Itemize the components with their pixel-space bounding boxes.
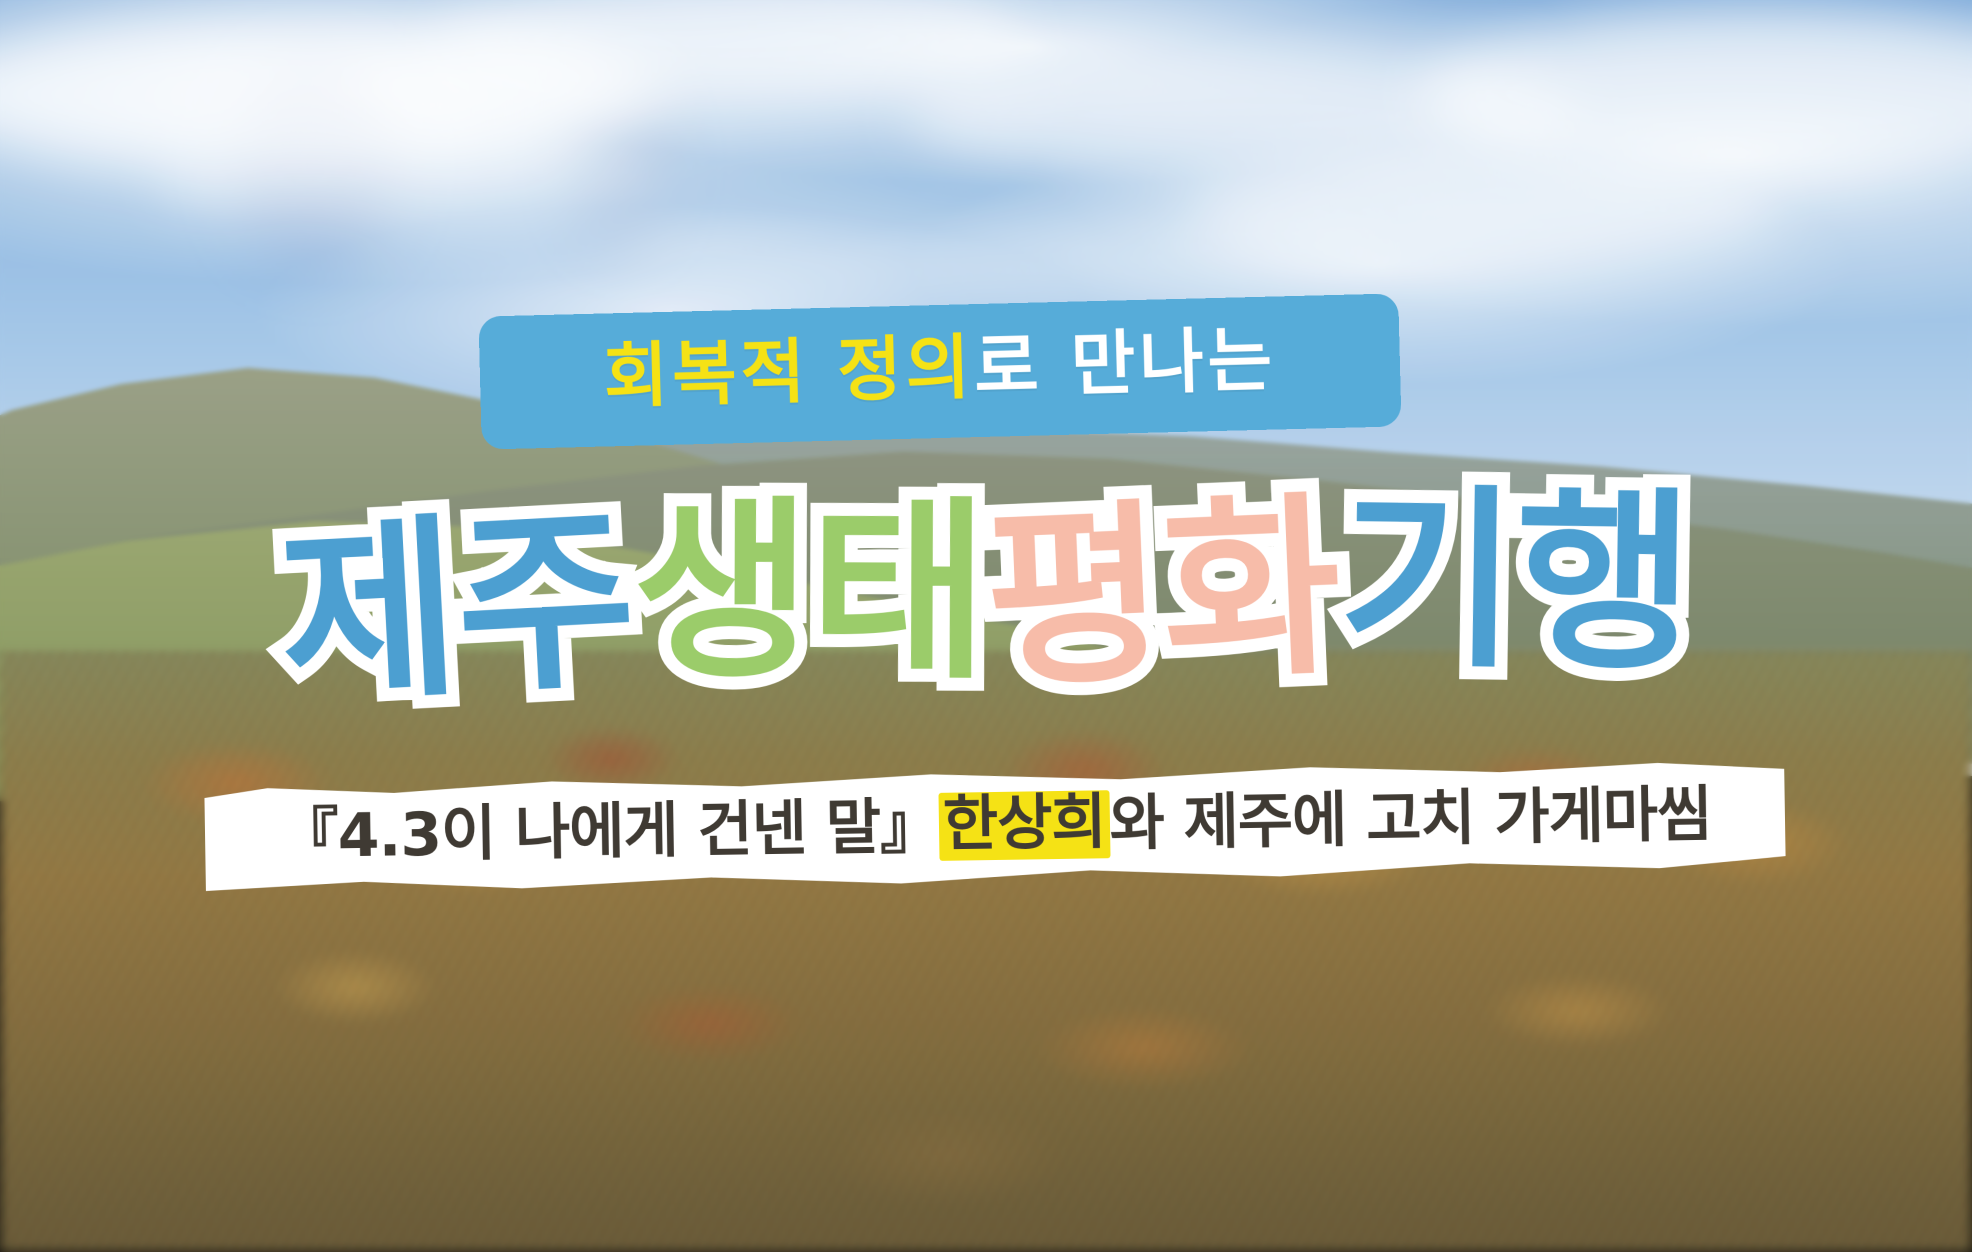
main-title: 제주생태평화기행 bbox=[0, 481, 1972, 709]
subtitle-part-tail: 와 제주에 고치 가게마씸 bbox=[1109, 785, 1712, 854]
autumn-forest-texture bbox=[0, 651, 1972, 1252]
title-segment-pyeonghwa: 평화 bbox=[982, 490, 1343, 699]
cloud bbox=[158, 124, 671, 233]
title-segment-saengtae: 생태 bbox=[633, 494, 987, 689]
eyebrow-highlight-text: 회복적 정의 bbox=[603, 326, 975, 417]
title-segment-gihaeng: 기행 bbox=[1338, 482, 1694, 681]
eyebrow-text: 회복적 정의로 만나는 bbox=[603, 324, 1277, 411]
title-segment-jeju: 제주 bbox=[276, 502, 639, 714]
subtitle-part-book-title: 『4.3이 나에게 건넨 말』 bbox=[278, 797, 939, 867]
subtitle-part-author-highlight: 한상희 bbox=[939, 790, 1111, 861]
main-title-text: 제주생태평화기행 bbox=[278, 486, 1693, 705]
poster-root: 회복적 정의로 만나는 제주생태평화기행 『4.3이 나에게 건넨 말』한상희와… bbox=[0, 0, 1972, 1252]
subtitle-text: 『4.3이 나에게 건넨 말』한상희와 제주에 고치 가게마씸 bbox=[278, 781, 1712, 871]
eyebrow-rest-text: 로 만나는 bbox=[973, 318, 1277, 408]
eyebrow-banner: 회복적 정의로 만나는 bbox=[478, 293, 1401, 449]
cloud bbox=[592, 202, 1381, 295]
